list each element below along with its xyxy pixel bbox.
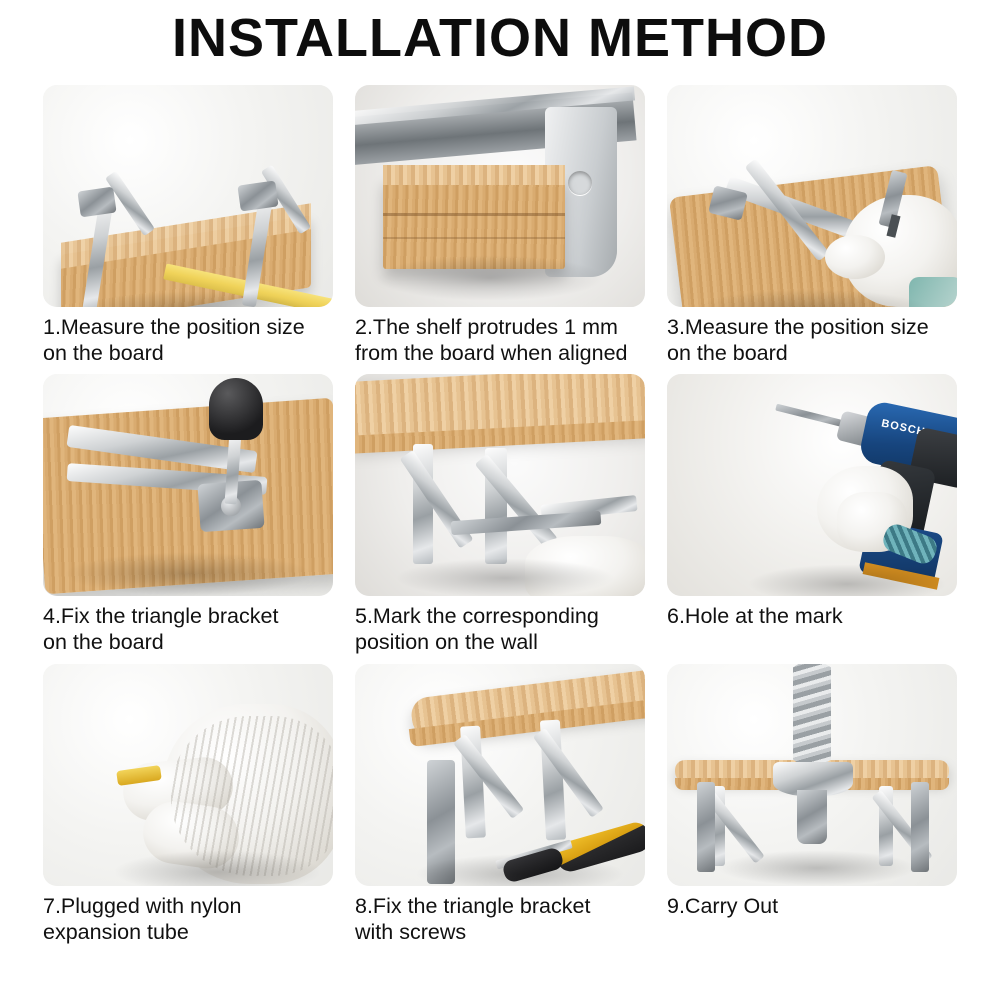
drop-shadow — [395, 558, 615, 596]
page-title: INSTALLATION METHOD — [0, 0, 1000, 67]
step-card-6: BOSCH 6.Hole at the mark — [667, 374, 957, 657]
drop-shadow — [717, 850, 917, 886]
step-6-caption: 6.Hole at the mark — [667, 603, 957, 629]
step-card-8: 8.Fix the triangle bracket with screws — [355, 664, 645, 947]
step-card-7: 7.Plugged with nylon expansion tube — [43, 664, 333, 947]
bracket-right-plate — [237, 180, 278, 211]
drop-shadow — [691, 289, 931, 307]
step-6-drill-hole-at-mark: BOSCH — [667, 374, 957, 596]
step-9-carry-out — [667, 664, 957, 886]
step-9-caption: 9.Carry Out — [667, 893, 957, 919]
step-7-caption: 7.Plugged with nylon expansion tube — [43, 893, 333, 945]
board-grain-line-2 — [383, 237, 565, 239]
step-2-shelf-protrudes-1mm — [355, 85, 645, 307]
steps-grid: 1.Measure the position size on the board… — [0, 85, 1000, 947]
board-grain-line — [383, 213, 565, 216]
drop-shadow — [73, 291, 313, 307]
drop-shadow — [113, 850, 323, 886]
step-1-measure-position-on-board — [43, 85, 333, 307]
step-5-mark-position-on-wall — [355, 374, 645, 596]
drop-shadow — [415, 854, 625, 886]
drop-shadow — [747, 564, 947, 596]
wooden-board-top-edge — [383, 165, 565, 185]
step-7-insert-nylon-expansion-tube — [43, 664, 333, 886]
drop-shadow — [63, 552, 313, 596]
bracket-hole — [568, 171, 592, 195]
step-4-caption: 4.Fix the triangle bracket on the board — [43, 603, 333, 655]
screw-shank — [797, 790, 827, 844]
step-5-caption: 5.Mark the corresponding position on the… — [355, 603, 645, 655]
glove-thumb — [825, 235, 885, 279]
step-3-caption: 3.Measure the position size on the board — [667, 314, 957, 366]
step-8-caption: 8.Fix the triangle bracket with screws — [355, 893, 645, 945]
step-card-1: 1.Measure the position size on the board — [43, 85, 333, 368]
step-card-5: 5.Mark the corresponding position on the… — [355, 374, 645, 657]
step-3-measure-position-on-board — [667, 85, 957, 307]
screwdriver-handle — [209, 378, 263, 440]
bracket-left-wall-plate — [697, 782, 715, 872]
step-4-fix-bracket-on-board — [43, 374, 333, 596]
step-card-2: 2.The shelf protrudes 1 mm from the boar… — [355, 85, 645, 368]
installation-method-poster: INSTALLATION METHOD 1 — [0, 0, 1000, 1000]
step-2-caption: 2.The shelf protrudes 1 mm from the boar… — [355, 314, 645, 366]
screw-thread — [793, 664, 831, 774]
step-card-9: 9.Carry Out — [667, 664, 957, 947]
step-1-caption: 1.Measure the position size on the board — [43, 314, 333, 366]
step-8-fix-bracket-with-screws — [355, 664, 645, 886]
step-card-3: 3.Measure the position size on the board — [667, 85, 957, 368]
step-card-4: 4.Fix the triangle bracket on the board — [43, 374, 333, 657]
bracket-left-plate — [77, 186, 116, 217]
drop-shadow — [375, 255, 605, 301]
